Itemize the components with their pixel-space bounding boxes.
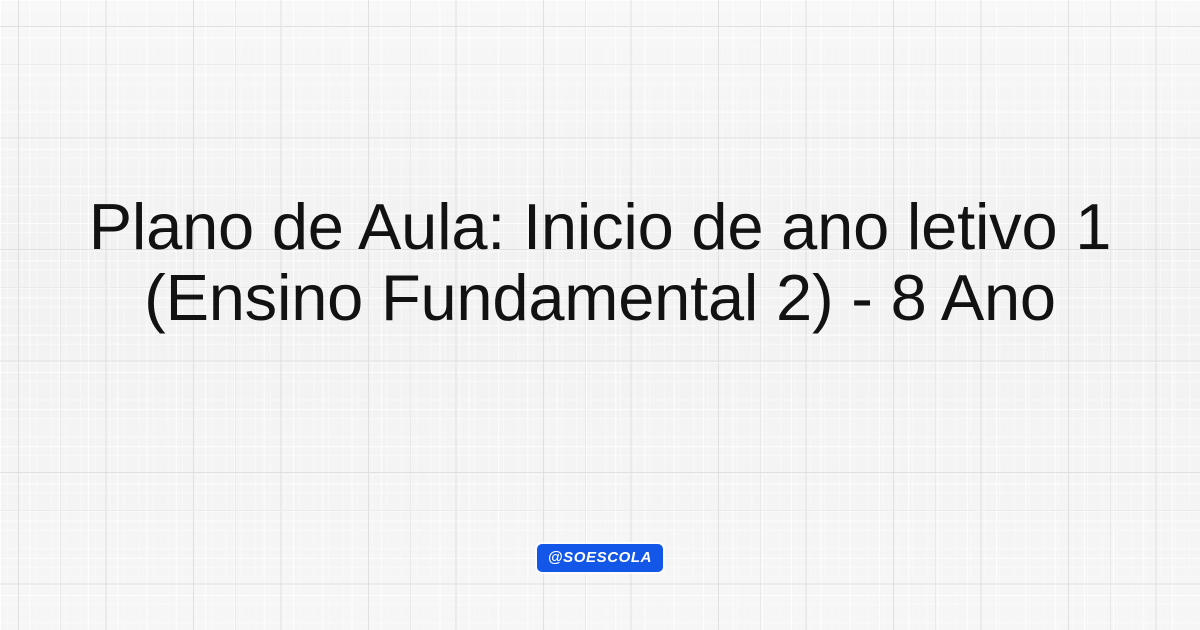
lesson-plan-cover-card: Plano de Aula: Inicio de ano letivo 1 (E… bbox=[0, 0, 1200, 630]
watermark-area: @SOESCOLA bbox=[0, 544, 1200, 572]
page-title: Plano de Aula: Inicio de ano letivo 1 (E… bbox=[30, 191, 1170, 333]
title-block: Plano de Aula: Inicio de ano letivo 1 (E… bbox=[30, 191, 1170, 333]
watermark-badge: @SOESCOLA bbox=[537, 544, 663, 572]
